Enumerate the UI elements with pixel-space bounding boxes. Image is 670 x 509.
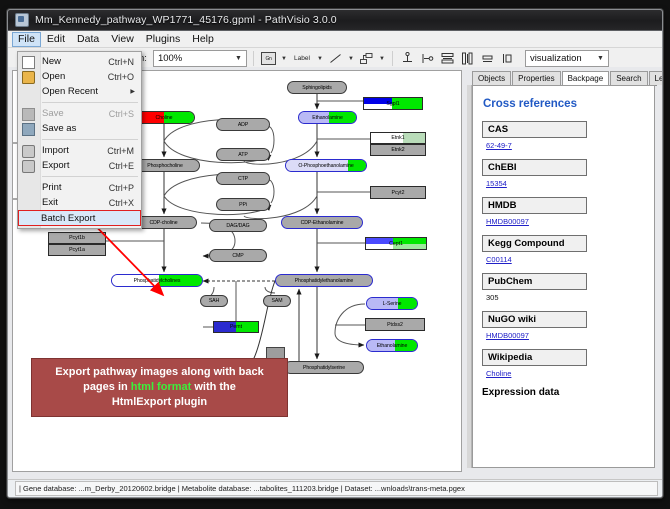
interaction-dropdown-icon[interactable]: ▼ [378,56,386,62]
node-pcyt1a[interactable]: Pcyt1a [48,244,106,256]
node-cmp[interactable]: CMP [209,249,267,262]
backpage-panel: Cross references CAS 62-49-7 ChEBI 15354… [472,85,655,468]
status-text: | Gene database: ...m_Derby_20120602.bri… [15,481,658,496]
menu-item-new[interactable]: New Ctrl+N [18,54,141,69]
menu-item-label: Open Recent [42,86,130,97]
menu-item-label: Import [42,145,107,156]
xref-label-kegg: Kegg Compound [482,235,587,252]
line-tool-button[interactable] [327,50,344,67]
toolbar-separator [253,51,254,66]
toolbar-separator-2 [392,51,393,66]
node-label: Phosphatidylcholines [134,278,181,284]
xref-value-nugo[interactable]: HMDB00097 [486,331,645,340]
menu-item-open[interactable]: Open Ctrl+O [18,69,141,84]
menu-bar: File Edit Data View Plugins Help [8,31,662,48]
node-label: SAH [209,298,219,304]
node-label: Pcyt1a [69,247,85,253]
node-label: Pcyt1b [69,235,85,241]
xref-value-chebi[interactable]: 15354 [486,179,645,188]
menu-item-label: Export [42,160,109,171]
node-label: Choline [156,115,173,121]
xref-label-cas: CAS [482,121,587,138]
menu-item-save-as[interactable]: Save as [18,121,141,136]
same-height-button[interactable] [499,50,516,67]
label-dropdown-icon[interactable]: ▼ [316,56,324,62]
node-ptdss2[interactable]: Ptdss2 [365,318,425,331]
menu-item-batch-export[interactable]: Batch Export [18,210,141,226]
node-cdp-ethanolamine[interactable]: CDP-Ethanolamine [281,216,363,229]
node-sgpl1[interactable]: Sgpl1 [363,97,423,110]
node-phosphatidylserine[interactable]: Phosphatidylserine [284,361,364,374]
menu-item-open-recent[interactable]: Open Recent ▶ [18,84,141,99]
node-choline[interactable]: Choline [133,111,195,124]
menu-item-accel: Ctrl+O [108,72,141,82]
cross-references-heading: Cross references [483,98,645,110]
node-ethanolamine-bottom[interactable]: Ethanolamine [366,339,418,352]
node-pcyt2[interactable]: Pcyt2 [370,186,426,199]
node-o-phosphoethanolamine[interactable]: O-Phosphoethanolamine [285,159,367,172]
node-label: Sgpl1 [386,101,399,107]
save-disk-icon [22,108,35,121]
annotation-callout: Export pathway images along with back pa… [31,358,288,417]
node-label: SAM [272,298,283,304]
node-label: Phosphocholine [147,163,183,169]
backpage-content: Cross references CAS 62-49-7 ChEBI 15354… [473,86,654,402]
menu-separator [42,102,138,103]
title-bar: Mm_Kennedy_pathway_WP1771_45176.gpml - P… [8,10,662,31]
menu-item-label: Save as [42,123,134,134]
annotation-line2-b: with the [191,381,236,393]
line-icon [329,53,342,64]
menu-item-save: Save Ctrl+S [18,106,141,121]
annotation-line3: HtmlExport plugin [112,396,207,408]
node-pemt[interactable]: Pemt [213,321,259,333]
menu-edit[interactable]: Edit [41,32,71,47]
menu-item-import[interactable]: Import Ctrl+M [18,143,141,158]
node-dag[interactable]: DAG/DAG [209,219,267,232]
file-menu-dropdown: New Ctrl+N Open Ctrl+O Open Recent ▶ Sav… [17,51,142,229]
tab-backpage[interactable]: Backpage [562,71,610,86]
xref-value-pubchem: 305 [486,293,645,302]
genenode-icon: Gn [261,52,276,65]
node-label: CDP-Ethanolamine [301,220,344,226]
xref-value-hmdb[interactable]: HMDB00097 [486,217,645,226]
menu-item-accel: Ctrl+P [109,183,141,193]
tab-objects[interactable]: Objects [472,71,511,85]
node-label: Ptdss2 [387,322,403,328]
xref-label-nugo: NuGO wiki [482,311,587,328]
node-ethanolamine-top[interactable]: Ethanolamine [298,111,357,124]
datanode-dropdown-icon[interactable]: ▼ [280,56,288,62]
window-title: Mm_Kennedy_pathway_WP1771_45176.gpml - P… [35,14,337,26]
save-as-icon [22,123,35,136]
menu-item-print[interactable]: Print Ctrl+P [18,180,141,195]
annotation-line2-a: pages in [83,381,131,393]
line-dropdown-icon[interactable]: ▼ [347,56,355,62]
distribute-horizontal-button[interactable] [459,50,476,67]
xref-value-wikipedia[interactable]: Choline [486,369,645,378]
interaction-tool-button[interactable] [358,50,375,67]
menu-view[interactable]: View [105,32,140,47]
align-left-button[interactable] [419,50,436,67]
menu-item-accel: Ctrl+E [109,161,141,171]
node-ctp[interactable]: CTP [216,172,270,185]
application-window: Mm_Kennedy_pathway_WP1771_45176.gpml - P… [7,9,663,498]
menu-item-export[interactable]: Export Ctrl+E [18,158,141,173]
node-label: Etnk2 [391,147,404,153]
node-etnk2[interactable]: Etnk2 [370,144,426,156]
menu-data[interactable]: Data [71,32,105,47]
node-label: Pcyt2 [392,190,405,196]
visualization-combobox[interactable]: visualization ▼ [525,50,609,67]
menu-item-label: Print [42,182,109,193]
pathvisio-icon [15,13,29,27]
node-label: Etnk1 [391,135,404,141]
node-label: Pemt [230,324,242,330]
menu-item-accel: Ctrl+N [108,57,141,67]
menu-item-label: Batch Export [41,213,140,224]
zoom-value: 100% [158,53,182,64]
expression-data-heading: Expression data [482,387,645,398]
node-label: Cept1 [389,241,403,247]
xref-label-wikipedia: Wikipedia [482,349,587,366]
node-l-serine[interactable]: L-Serine [366,297,418,310]
label-tool-button[interactable]: Label [291,50,313,67]
menu-item-label: New [42,56,108,67]
status-bar: | Gene database: ...m_Derby_20120602.bri… [8,479,662,497]
node-pcyt1b[interactable]: Pcyt1b [48,232,106,244]
node-label: Phosphatidylethanolamine [295,278,353,284]
menu-item-label: Save [42,108,109,119]
annotation-highlight: html format [131,381,192,393]
open-folder-icon [22,71,35,84]
node-adp[interactable]: ADP [216,118,270,131]
menu-item-label: Open [42,71,108,82]
chevron-down-icon: ▼ [233,55,244,62]
menu-plugins[interactable]: Plugins [140,32,186,47]
node-atp[interactable]: ATP [216,148,270,161]
node-label: ATP [238,152,247,158]
align-top-icon [401,52,414,65]
xref-value-cas[interactable]: 62-49-7 [486,141,645,150]
tab-legend[interactable]: Legend [649,71,663,85]
same-width-button[interactable] [479,50,496,67]
desktop-background: Mm_Kennedy_pathway_WP1771_45176.gpml - P… [0,0,670,509]
xref-value-kegg[interactable]: C00114 [486,255,645,264]
side-panel: Objects Properties Backpage Search Legen… [467,70,657,470]
menu-item-accel: Ctrl+M [107,146,141,156]
menu-separator-3 [42,176,138,177]
distribute-vertical-icon [441,52,454,65]
menu-separator-2 [42,139,138,140]
node-label: Phosphatidylserine [303,365,345,371]
annotation-line1: Export pathway images along with back [55,366,263,378]
node-label: CTP [238,176,248,182]
menu-item-exit[interactable]: Exit Ctrl+X [18,195,141,210]
annotation-text: Export pathway images along with back pa… [49,365,269,410]
new-document-icon [22,56,35,69]
node-etnk1[interactable]: Etnk1 [370,132,426,144]
distribute-horizontal-icon [461,52,474,65]
zoom-combobox[interactable]: 100% ▼ [153,50,247,67]
menu-item-label: Exit [42,197,109,208]
node-label: CMP [232,253,243,259]
node-sphingolipids[interactable]: Sphingolipids [287,81,347,94]
node-label: Sphingolipids [302,85,332,91]
node-label: L-Serine [383,301,402,307]
menu-help[interactable]: Help [186,32,220,47]
export-icon [22,160,35,173]
align-left-icon [421,52,434,65]
node-phosphatidylcholines[interactable]: Phosphatidylcholines [111,274,203,287]
import-icon [22,145,35,158]
menu-item-accel: Ctrl+S [109,109,141,119]
node-label: PPi [239,202,247,208]
same-height-icon [501,52,514,65]
node-phosphatidylethanolamine[interactable]: Phosphatidylethanolamine [275,274,373,287]
interaction-icon [360,53,373,64]
datanode-tool-button[interactable]: Gn [260,50,277,67]
node-label: DAG/DAG [226,223,249,229]
node-sah[interactable]: SAH [200,295,228,307]
submenu-arrow-icon: ▶ [130,88,141,95]
node-label: Ethanolamine [377,343,408,349]
tab-properties[interactable]: Properties [512,71,560,85]
same-width-icon [481,52,494,65]
distribute-vertical-button[interactable] [439,50,456,67]
tab-search[interactable]: Search [610,71,647,85]
node-label: O-Phosphoethanolamine [298,163,353,169]
chevron-down-icon-2: ▼ [595,55,606,62]
node-ppi[interactable]: PPi [216,198,270,211]
node-sam[interactable]: SAM [263,295,291,307]
xref-label-chebi: ChEBI [482,159,587,176]
label-icon: Label [294,55,310,62]
node-label: Ethanolamine [312,115,343,121]
align-top-button[interactable] [399,50,416,67]
xref-label-hmdb: HMDB [482,197,587,214]
node-cept1[interactable]: Cept1 [365,237,427,250]
side-panel-tabs: Objects Properties Backpage Search Legen… [467,70,657,86]
visualization-value: visualization [530,53,582,64]
menu-item-accel: Ctrl+X [109,198,141,208]
xref-label-pubchem: PubChem [482,273,587,290]
node-label: ADP [238,122,248,128]
menu-file[interactable]: File [12,32,41,47]
node-label: CDP-choline [149,220,177,226]
